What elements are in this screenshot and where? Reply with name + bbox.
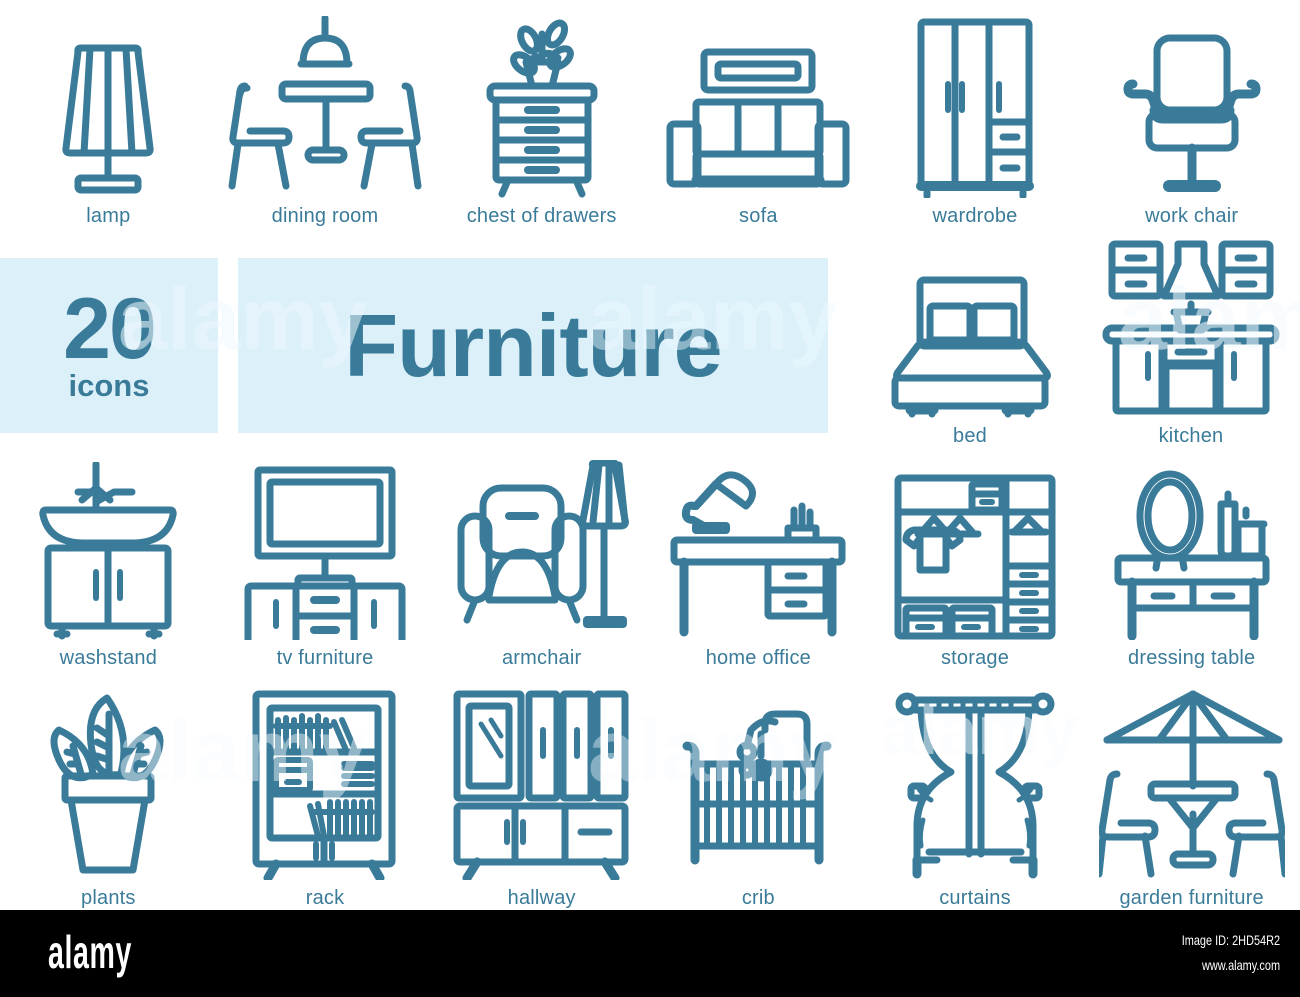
icon-label: work chair [1145,204,1238,228]
icon-cell-lamp[interactable]: lamp [0,0,217,228]
icon-label: curtains [939,886,1011,910]
icon-count-badge: 20 icons [0,258,218,433]
potted-plant-icon [43,684,173,880]
icon-row-4: plants [0,676,1300,910]
icon-cell-hallway[interactable]: hallway [433,676,650,910]
banner-row: 20 icons Furniture [0,232,1300,448]
icon-row-1: lamp [0,0,1300,228]
icon-cell-garden-furniture[interactable]: garden furniture [1083,676,1300,910]
desk-lamp-icon [668,460,848,640]
banner-title-box: Furniture [238,258,828,433]
vanity-mirror-table-icon [1108,460,1276,640]
icon-label: plants [81,886,136,910]
icon-label: dressing table [1128,646,1255,670]
icon-label: tv furniture [277,646,374,670]
floor-lamp-icon [48,13,168,198]
icon-count-number: 20 [63,290,155,368]
icon-label: rack [306,886,345,910]
alamy-footer-bar: alamy Image ID: 2HD54R2 www.alamy.com [0,910,1300,997]
bookshelf-icon [250,684,400,880]
icon-row-3: washstand [0,452,1300,670]
icon-count-word: icons [69,370,150,402]
icon-cell-armchair[interactable]: armchair [433,452,650,670]
icon-label: lamp [86,204,130,228]
wardrobe-icon [907,13,1043,198]
curtains-icon [895,684,1055,880]
footer-meta: Image ID: 2HD54R2 www.alamy.com [1154,928,1280,978]
icon-label: chest of drawers [467,204,617,228]
baby-crib-icon [677,684,839,880]
hallway-mirror-cabinet-icon [451,684,633,880]
icon-cell-tv-furniture[interactable]: tv furniture [217,452,434,670]
icon-cell-washstand[interactable]: washstand [0,452,217,670]
closet-storage-icon [892,460,1058,640]
icon-cell-plants[interactable]: plants [0,676,217,910]
website-url: www.alamy.com [1182,953,1280,978]
icon-cell-wardrobe[interactable]: wardrobe [867,0,1084,228]
icon-label: dining room [272,204,379,228]
icon-label: home office [706,646,811,670]
icon-cell-dressing-table[interactable]: dressing table [1083,452,1300,670]
page-title: Furniture [344,300,721,392]
icon-cell-rack[interactable]: rack [217,676,434,910]
office-chair-icon [1117,13,1267,198]
chest-of-drawers-icon [472,13,612,198]
armchair-floorlamp-icon [453,460,631,640]
icon-label: kitchen [1159,424,1224,448]
icon-label: crib [742,886,775,910]
icon-cell-crib[interactable]: crib [650,676,867,910]
icon-sheet: lamp [0,0,1300,910]
double-bed-icon [882,240,1058,418]
icon-cell-storage[interactable]: storage [867,452,1084,670]
icon-label: armchair [502,646,581,670]
alamy-logo: alamy [48,928,132,976]
icon-label: garden furniture [1119,886,1263,910]
icon-cell-dining-room[interactable]: dining room [217,0,434,228]
tv-stand-icon [240,460,410,640]
icon-cell-chest-of-drawers[interactable]: chest of drawers [433,0,650,228]
icon-cell-bed[interactable]: bed [862,232,1078,448]
icon-cell-home-office[interactable]: home office [650,452,867,670]
icon-cell-kitchen[interactable]: kitchen [1082,232,1300,448]
kitchen-units-icon [1102,240,1280,418]
image-id: Image ID: 2HD54R2 [1182,928,1280,953]
icon-cell-curtains[interactable]: curtains [867,676,1084,910]
parasol-table-chairs-icon [1099,684,1285,880]
dining-table-chairs-icon [220,13,430,198]
washbasin-cabinet-icon [38,460,178,640]
icon-label: storage [941,646,1009,670]
icon-label: sofa [739,204,778,228]
icon-label: washstand [60,646,157,670]
sofa-icon [662,13,854,198]
icon-cell-sofa[interactable]: sofa [650,0,867,228]
icon-label: hallway [508,886,576,910]
icon-label: wardrobe [933,204,1018,228]
icon-label: bed [953,424,987,448]
icon-cell-work-chair[interactable]: work chair [1083,0,1300,228]
